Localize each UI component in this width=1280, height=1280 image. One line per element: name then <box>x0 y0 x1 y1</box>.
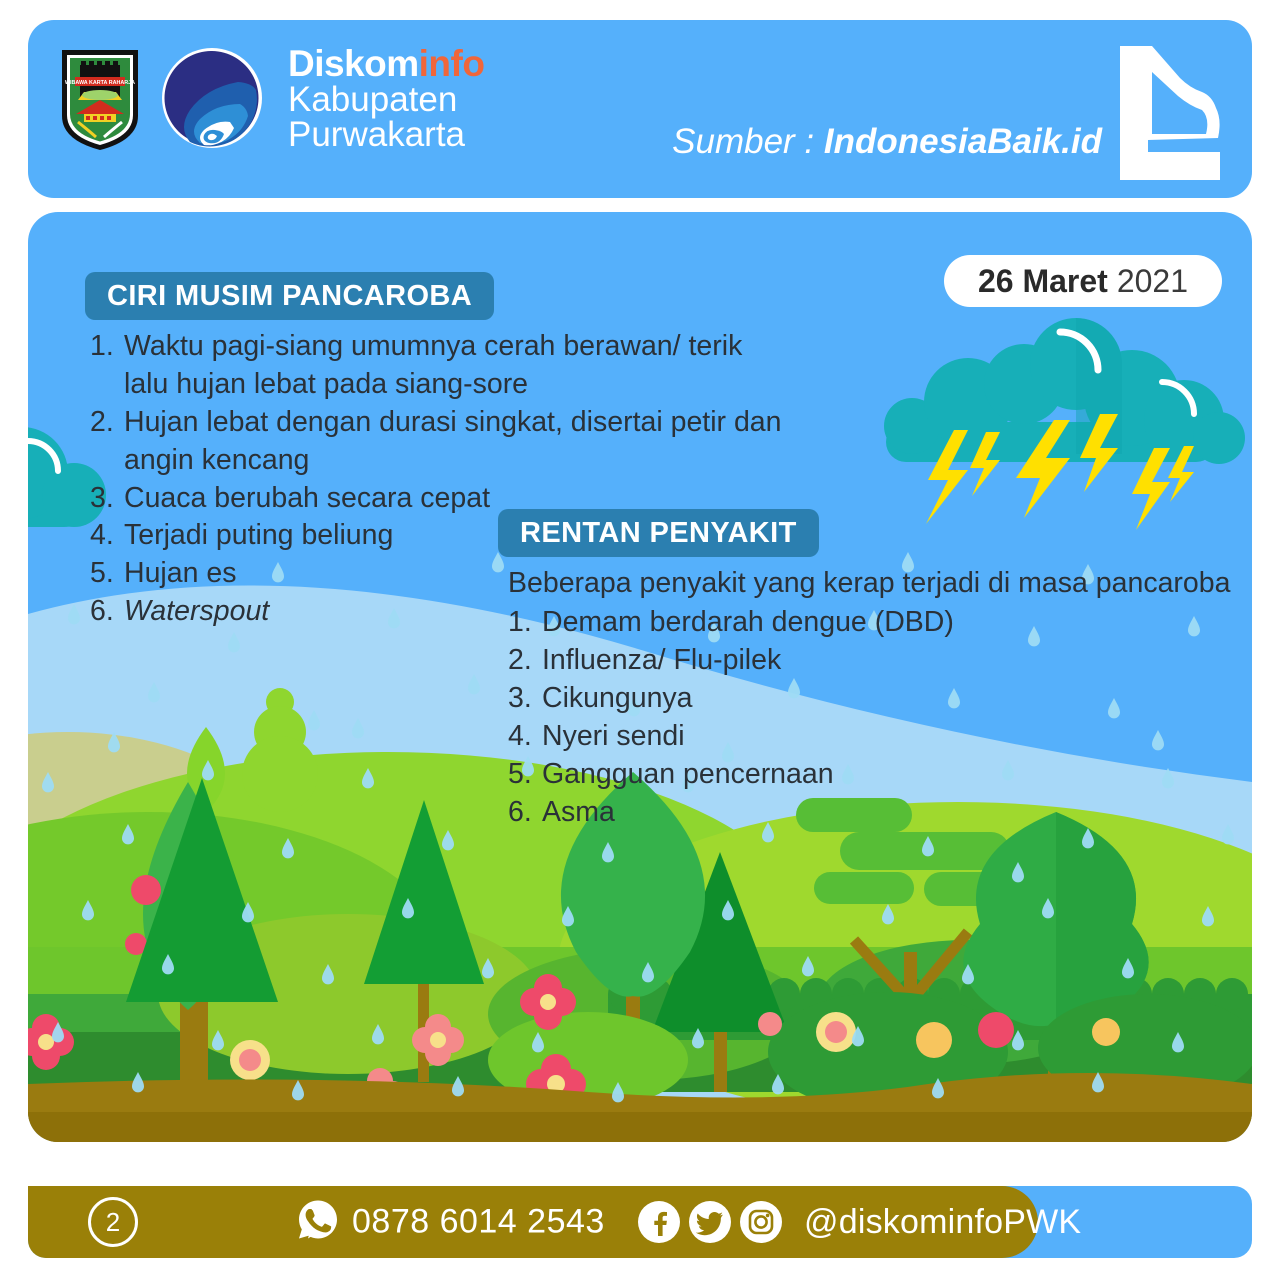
list-item-text: Cikungunya <box>542 679 693 717</box>
list-item-text: Hujan lebat dengan durasi singkat, diser… <box>124 404 790 480</box>
purwakarta-map-outline-icon <box>1118 34 1238 194</box>
date-badge: 26 Maret 2021 <box>944 255 1222 307</box>
brand-purwakarta: Purwakarta <box>288 117 484 152</box>
date-year: 2021 <box>1117 263 1188 300</box>
list-item: 1. Waktu pagi-siang umumnya cerah berawa… <box>90 328 790 404</box>
list-item: 1. Demam berdarah dengue (DBD) <box>508 603 1252 641</box>
list-item-text: Nyeri sendi <box>542 717 685 755</box>
footer-bar: 2 0878 6014 2543 <box>28 1186 1252 1258</box>
brand-wordmark: Diskominfo Kabupaten Purwakarta <box>288 45 484 152</box>
header-bar: WIBAWA KARTA RAHARJA <box>28 20 1252 198</box>
list-item-text: Asma <box>542 793 615 831</box>
source-value: IndonesiaBaik.id <box>824 122 1102 161</box>
date-daymonth: 26 Maret <box>978 263 1108 300</box>
main-content-card: 26 Maret 2021 CIRI MUSIM PANCAROBA 1. Wa… <box>28 212 1252 1142</box>
list-item: 2. Influenza/ Flu-pilek <box>508 641 1252 679</box>
list-item-text: Waterspout <box>124 595 269 627</box>
section-title-rentan-penyakit: RENTAN PENYAKIT <box>498 509 819 557</box>
list-item-text: Influenza/ Flu-pilek <box>542 641 781 679</box>
list-item: 6. Asma <box>508 793 1252 831</box>
list-item-text: Gangguan pencernaan <box>542 755 834 793</box>
list-item-number: 3. <box>90 480 124 518</box>
social-handle: @diskominfoPWK <box>804 1203 1081 1242</box>
list-item-number: 1. <box>90 328 124 404</box>
list-item-number: 3. <box>508 679 542 717</box>
list-item-number: 5. <box>90 555 124 593</box>
list-item-number: 4. <box>90 517 124 555</box>
list-item-text: Demam berdarah dengue (DBD) <box>542 603 954 641</box>
instagram-icon[interactable] <box>740 1201 782 1243</box>
brand-diskom: Diskom <box>288 43 419 84</box>
list-item: 5. Gangguan pencernaan <box>508 755 1252 793</box>
source-credit: Sumber : IndonesiaBaik.id <box>672 122 1102 162</box>
header-branding: WIBAWA KARTA RAHARJA <box>56 42 484 154</box>
list-item-text: Waktu pagi-siang umumnya cerah berawan/ … <box>124 328 790 404</box>
emblem-motto: WIBAWA KARTA RAHARJA <box>65 80 135 86</box>
infographic-poster: WIBAWA KARTA RAHARJA <box>0 0 1280 1280</box>
brand-info: info <box>419 43 485 84</box>
whatsapp-contact[interactable]: 0878 6014 2543 <box>296 1198 605 1247</box>
list-item: 3. Cikungunya <box>508 679 1252 717</box>
facebook-icon[interactable] <box>638 1201 680 1243</box>
whatsapp-icon <box>296 1198 340 1247</box>
rentan-intro: Beberapa penyakit yang kerap terjadi di … <box>508 564 1252 602</box>
list-item-number: 2. <box>508 641 542 679</box>
list-item-number: 2. <box>90 404 124 480</box>
social-links[interactable]: @diskominfoPWK <box>638 1201 1081 1243</box>
rentan-list: Beberapa penyakit yang kerap terjadi di … <box>508 564 1252 831</box>
list-item-number: 4. <box>508 717 542 755</box>
storm-cloud-illustration <box>864 302 1252 532</box>
kominfo-logo-icon <box>160 46 264 150</box>
list-item-number: 1. <box>508 603 542 641</box>
brand-kabupaten: Kabupaten <box>288 82 484 117</box>
phone-number: 0878 6014 2543 <box>352 1203 605 1242</box>
list-item: 4. Nyeri sendi <box>508 717 1252 755</box>
list-item-number: 5. <box>508 755 542 793</box>
source-label: Sumber : <box>672 122 824 161</box>
list-item-number: 6. <box>90 593 124 631</box>
list-item-number: 6. <box>508 793 542 831</box>
page-number-badge: 2 <box>88 1197 138 1247</box>
twitter-icon[interactable] <box>689 1201 731 1243</box>
section-title-ciri-musim-pancaroba: CIRI MUSIM PANCAROBA <box>85 272 494 320</box>
list-item: 2. Hujan lebat dengan durasi singkat, di… <box>90 404 790 480</box>
purwakarta-emblem-icon: WIBAWA KARTA RAHARJA <box>56 42 144 154</box>
